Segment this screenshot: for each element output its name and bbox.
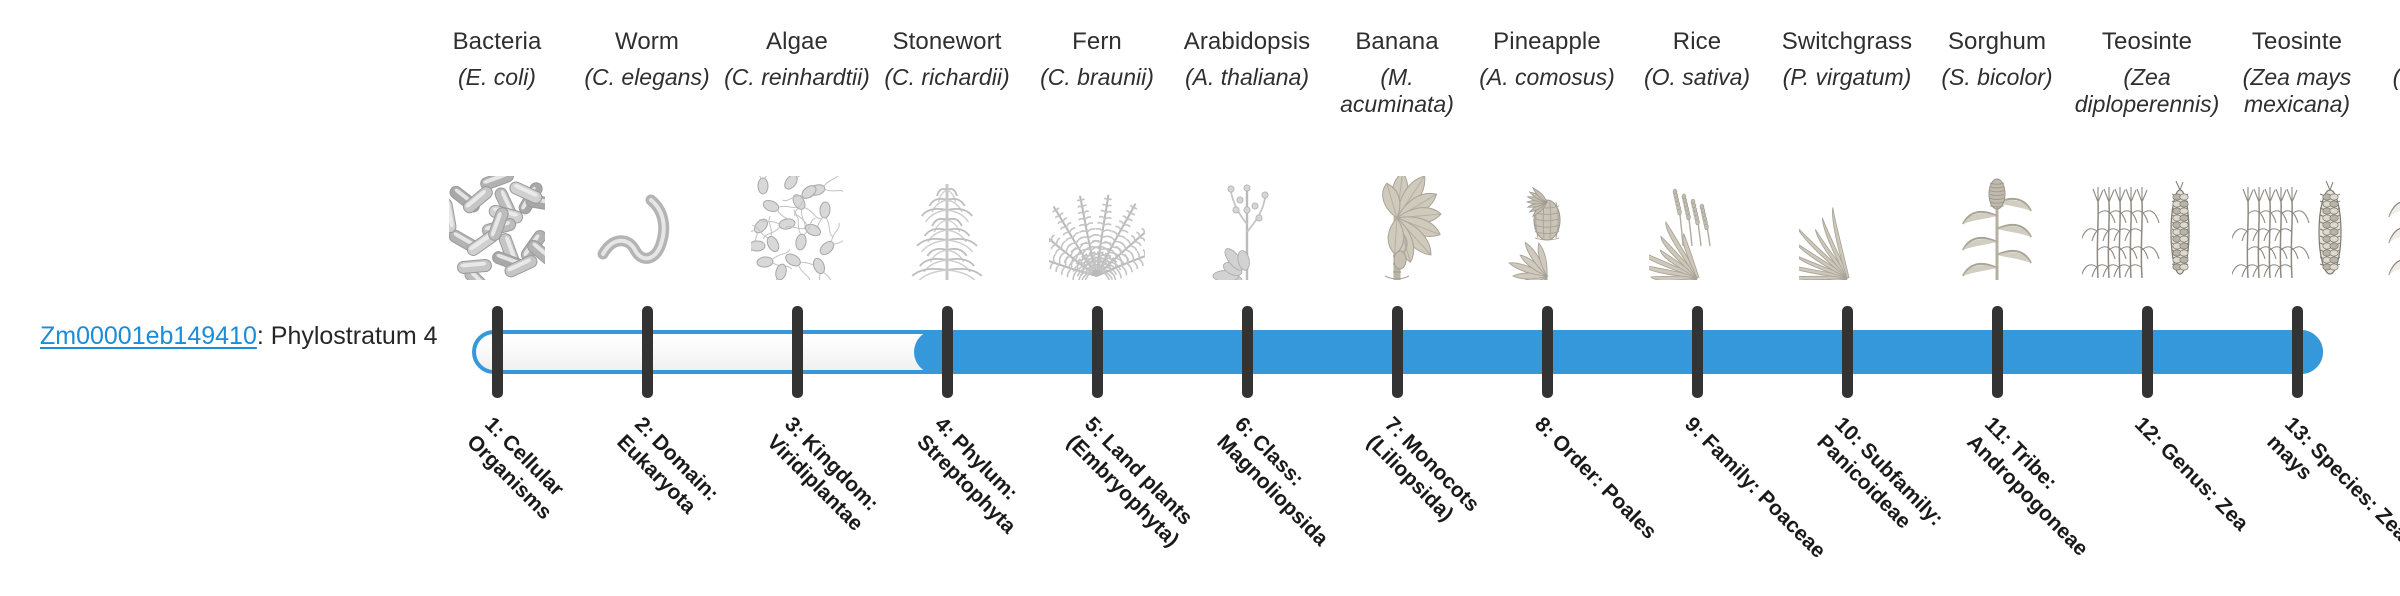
species-common-name: Bacteria <box>422 28 572 58</box>
tick-mark <box>942 306 953 398</box>
species-scientific-name: (A. thaliana) <box>1172 64 1322 122</box>
progress-fill <box>914 330 2323 374</box>
gene-label-separator: : <box>257 322 271 350</box>
species-common-name: Fern <box>1022 28 1172 58</box>
tick-mark <box>2292 306 2303 398</box>
bacteria-rods-icon <box>422 170 572 280</box>
nematode-worm-icon <box>572 170 722 280</box>
species-column: Banana(M. acuminata) <box>1322 28 1472 122</box>
tick-mark <box>792 306 803 398</box>
phylostratum-timeline-figure: Zm00001eb149410: Phylostratum 4 Bacteria… <box>0 0 2400 580</box>
species-common-name: Teosinte <box>2222 28 2372 58</box>
tick-mark <box>1692 306 1703 398</box>
species-scientific-name: (O. sativa) <box>1622 64 1772 122</box>
species-scientific-name: (S. bicolor) <box>1922 64 2072 122</box>
phylostratum-value-text: Phylostratum 4 <box>271 322 438 350</box>
tick-mark <box>1092 306 1103 398</box>
species-common-name: Pineapple <box>1472 28 1622 58</box>
sorghum-plant-icon <box>1922 170 2072 280</box>
species-scientific-name: (M. acuminata) <box>1322 64 1472 122</box>
tick-mark <box>1392 306 1403 398</box>
species-common-name: Algae <box>722 28 872 58</box>
tick-mark <box>1842 306 1853 398</box>
stratum-label-text: 8: Order: Poales <box>1529 412 1695 578</box>
species-scientific-name: (Zea diploperennis) <box>2072 64 2222 122</box>
species-common-name: Switchgrass <box>1772 28 1922 58</box>
tick-mark <box>1992 306 2003 398</box>
species-column: Worm(C. elegans) <box>572 28 722 122</box>
species-common-name: Stonewort <box>872 28 1022 58</box>
species-column: Sorghum(S. bicolor) <box>1922 28 2072 122</box>
species-scientific-name: (Zea mays mays) <box>2372 64 2400 122</box>
phylostratum-progress-bar[interactable] <box>497 330 2298 374</box>
gene-phylostratum-label: Zm00001eb149410: Phylostratum 4 <box>40 324 438 349</box>
teosinte-plant-and-ear-icon <box>2222 170 2372 280</box>
stratum-label-text: 11: Tribe: Andropogoneae <box>1962 412 2146 596</box>
species-common-name: Maize <box>2372 28 2400 58</box>
tick-mark <box>492 306 503 398</box>
species-column: Teosinte(Zea diploperennis) <box>2072 28 2222 122</box>
species-column: Pineapple(A. comosus) <box>1472 28 1622 122</box>
species-column: Bacteria(E. coli) <box>422 28 572 122</box>
tick-mark <box>1542 306 1553 398</box>
species-common-name: Teosinte <box>2072 28 2222 58</box>
tick-mark <box>642 306 653 398</box>
species-common-name: Sorghum <box>1922 28 2072 58</box>
species-column: Rice(O. sativa) <box>1622 28 1772 122</box>
species-column: Fern(C. braunii) <box>1022 28 1172 122</box>
species-column: Algae(C. reinhardtii) <box>722 28 872 122</box>
pineapple-plant-icon <box>1472 170 1622 280</box>
species-scientific-name: (P. virgatum) <box>1772 64 1922 122</box>
tick-mark <box>2142 306 2153 398</box>
stonewort-alga-icon <box>872 170 1022 280</box>
species-scientific-name: (Zea mays mexicana) <box>2222 64 2372 122</box>
switchgrass-plant-icon <box>1772 170 1922 280</box>
species-common-name: Banana <box>1322 28 1472 58</box>
species-common-name: Arabidopsis <box>1172 28 1322 58</box>
species-column: Switchgrass(P. virgatum) <box>1772 28 1922 122</box>
species-column: Arabidopsis(A. thaliana) <box>1172 28 1322 122</box>
species-scientific-name: (E. coli) <box>422 64 572 122</box>
green-algae-cells-icon <box>722 170 872 280</box>
rice-plant-icon <box>1622 170 1772 280</box>
banana-tree-icon <box>1322 170 1472 280</box>
arabidopsis-plant-icon <box>1172 170 1322 280</box>
stratum-label-text: 7: Monocots (Liliopsida) <box>1362 412 1546 596</box>
fern-frond-icon <box>1022 170 1172 280</box>
species-scientific-name: (C. elegans) <box>572 64 722 122</box>
teosinte-plant-and-ear-icon <box>2072 170 2222 280</box>
species-column: Maize(Zea mays mays) <box>2372 28 2400 122</box>
species-column: Stonewort(C. richardii) <box>872 28 1022 122</box>
gene-id-link[interactable]: Zm00001eb149410 <box>40 322 257 350</box>
species-scientific-name: (C. richardii) <box>872 64 1022 122</box>
species-common-name: Worm <box>572 28 722 58</box>
species-common-name: Rice <box>1622 28 1772 58</box>
species-scientific-name: (C. braunii) <box>1022 64 1172 122</box>
tick-mark <box>1242 306 1253 398</box>
species-column: Teosinte(Zea mays mexicana) <box>2222 28 2372 122</box>
species-scientific-name: (C. reinhardtii) <box>722 64 872 122</box>
species-scientific-name: (A. comosus) <box>1472 64 1622 122</box>
maize-plant-and-cob-icon <box>2372 170 2400 280</box>
